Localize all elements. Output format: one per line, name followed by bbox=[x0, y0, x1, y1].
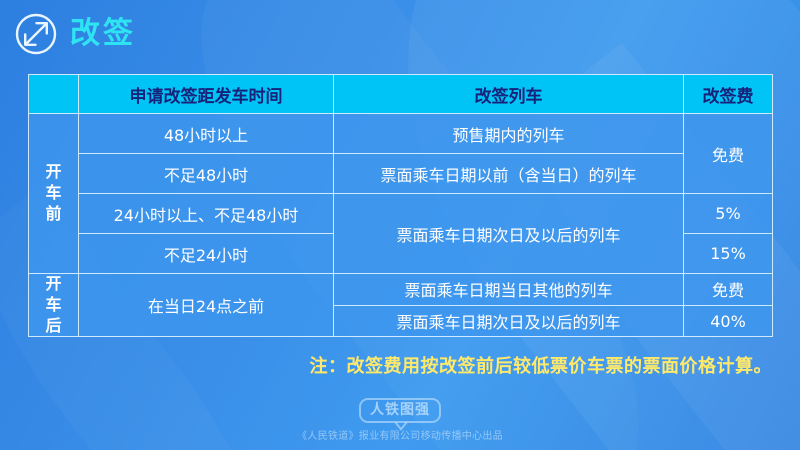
section-label-text: 开车前 bbox=[46, 162, 62, 224]
fee-cell: 5% bbox=[684, 194, 773, 234]
section-label-after-departure: 开车后 bbox=[29, 274, 79, 337]
train-cell: 预售期内的列车 bbox=[334, 114, 684, 154]
time-cell: 在当日24点之前 bbox=[79, 274, 334, 337]
time-cell: 不足24小时 bbox=[79, 234, 334, 274]
table-row: 开车后 在当日24点之前 票面乘车日期当日其他的列车 免费 bbox=[29, 274, 773, 306]
train-cell: 票面乘车日期以前（含当日）的列车 bbox=[334, 154, 684, 194]
slide-footer: 人铁图强 《人民铁道》报业有限公司移动传播中心出品 bbox=[0, 398, 800, 442]
slide-header: 改签 bbox=[14, 12, 136, 56]
slide-root: 改签 申请改签距发车时间 改签列车 改签费 开车前 bbox=[0, 0, 800, 450]
fare-table-container: 申请改签距发车时间 改签列车 改签费 开车前 48小时以上 预售期内的列车 免费… bbox=[28, 74, 772, 337]
time-cell: 不足48小时 bbox=[79, 154, 334, 194]
fee-cell: 免费 bbox=[684, 274, 773, 306]
train-cell: 票面乘车日期次日及以后的列车 bbox=[334, 305, 684, 337]
fee-cell: 免费 bbox=[684, 114, 773, 194]
exchange-circle-icon bbox=[14, 12, 58, 56]
fee-cell: 40% bbox=[684, 305, 773, 337]
footnote-text: 注：改签费用按改签前后较低票价车票的票面价格计算。 bbox=[310, 352, 773, 378]
table-row: 24小时以上、不足48小时 票面乘车日期次日及以后的列车 5% bbox=[29, 194, 773, 234]
table-header-cell-train: 改签列车 bbox=[334, 75, 684, 114]
train-cell: 票面乘车日期当日其他的列车 bbox=[334, 274, 684, 306]
page-title: 改签 bbox=[70, 19, 136, 49]
section-label-text: 开车后 bbox=[46, 274, 62, 336]
table-header-cell-time: 申请改签距发车时间 bbox=[79, 75, 334, 114]
refund-fee-table: 申请改签距发车时间 改签列车 改签费 开车前 48小时以上 预售期内的列车 免费… bbox=[28, 74, 773, 337]
brand-logo: 人铁图强 bbox=[359, 398, 441, 423]
time-cell: 48小时以上 bbox=[79, 114, 334, 154]
fee-cell: 15% bbox=[684, 234, 773, 274]
train-cell: 票面乘车日期次日及以后的列车 bbox=[334, 194, 684, 274]
time-cell: 24小时以上、不足48小时 bbox=[79, 194, 334, 234]
table-header-cell-fee: 改签费 bbox=[684, 75, 773, 114]
table-row: 开车前 48小时以上 预售期内的列车 免费 bbox=[29, 114, 773, 154]
table-header-row: 申请改签距发车时间 改签列车 改签费 bbox=[29, 75, 773, 114]
section-label-before-departure: 开车前 bbox=[29, 114, 79, 274]
table-header-cell-blank bbox=[29, 75, 79, 114]
table-row: 不足48小时 票面乘车日期以前（含当日）的列车 bbox=[29, 154, 773, 194]
